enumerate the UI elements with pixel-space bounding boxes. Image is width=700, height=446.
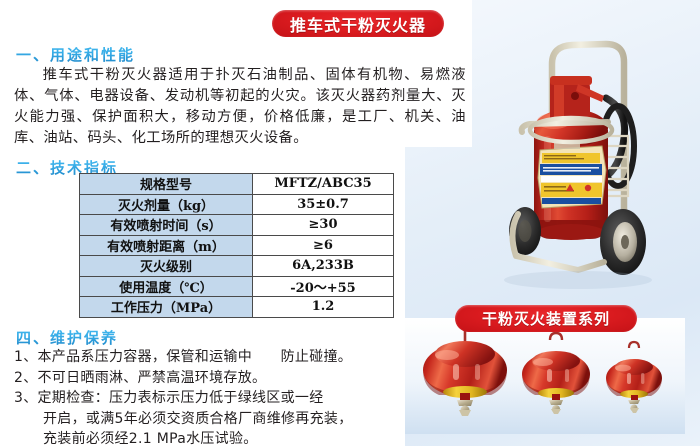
spec-value: 1.2 xyxy=(253,297,394,318)
usage-paragraph: 推车式干粉灭火器适用于扑灭石油制品、固体有机物、易燃液体、气体、电器设备、发动机… xyxy=(14,65,466,149)
section-heading-maintenance: 四、维护保养 xyxy=(16,327,118,348)
series-title-text: 干粉灭火装置系列 xyxy=(482,308,610,329)
list-item: 3、定期检查：压力表标示压力低于绿线区或一经 xyxy=(14,388,406,409)
spec-value: 6A,233B xyxy=(253,256,394,277)
list-item: 开启，或满5年必须交资质合格厂商维修再充装， xyxy=(14,409,406,430)
table-row: 灭火剂量（kg） 35±0.7 xyxy=(80,194,394,215)
spec-value: ≥30 xyxy=(253,215,394,236)
table-row: 有效喷射时间（s） ≥30 xyxy=(80,215,394,236)
spec-key: 灭火剂量（kg） xyxy=(80,194,253,215)
table-row: 有效喷射距离（m） ≥6 xyxy=(80,235,394,256)
spec-table-body: 规格型号 MFTZ/ABC35 灭火剂量（kg） 35±0.7 有效喷射时间（s… xyxy=(80,174,394,318)
main-title-badge: 推车式干粉灭火器 xyxy=(272,10,444,37)
section-heading-usage: 一、用途和性能 xyxy=(16,44,135,65)
list-item: 充装前必须经2.1 MPa水压试验。 xyxy=(14,429,406,446)
table-row: 使用温度（℃） -20～+55 xyxy=(80,276,394,297)
specification-table: 规格型号 MFTZ/ABC35 灭火剂量（kg） 35±0.7 有效喷射时间（s… xyxy=(79,173,394,318)
cart-fire-extinguisher-photo xyxy=(478,18,690,300)
spec-key: 规格型号 xyxy=(80,174,253,195)
list-item: 2、不可日晒雨淋、严禁高温环境存放。 xyxy=(14,368,406,389)
spec-value: -20～+55 xyxy=(253,276,394,297)
table-row: 规格型号 MFTZ/ABC35 xyxy=(80,174,394,195)
spec-key: 使用温度（℃） xyxy=(80,276,253,297)
spec-value: ≥6 xyxy=(253,235,394,256)
poster-page: 推车式干粉灭火器 一、用途和性能 推车式干粉灭火器适用于扑灭石油制品、固体有机物… xyxy=(0,0,700,446)
spec-value: MFTZ/ABC35 xyxy=(253,174,394,195)
product-label xyxy=(538,142,606,208)
series-products-photo xyxy=(405,318,685,434)
maintenance-list: 1、本产品系压力容器，保管和运输中 防止碰撞。 2、不可日晒雨淋、严禁高温环境存… xyxy=(14,347,406,446)
spec-key: 工作压力（MPa） xyxy=(80,297,253,318)
list-item: 1、本产品系压力容器，保管和运输中 防止碰撞。 xyxy=(14,347,406,368)
spec-key: 有效喷射距离（m） xyxy=(80,235,253,256)
product-shadow xyxy=(504,271,652,289)
table-row: 灭火级别 6A,233B xyxy=(80,256,394,277)
table-row: 工作压力（MPa） 1.2 xyxy=(80,297,394,318)
spec-value: 35±0.7 xyxy=(253,194,394,215)
main-title-text: 推车式干粉灭火器 xyxy=(290,12,426,36)
series-title-badge: 干粉灭火装置系列 xyxy=(455,305,637,332)
spec-key: 有效喷射时间（s） xyxy=(80,215,253,236)
spec-key: 灭火级别 xyxy=(80,256,253,277)
